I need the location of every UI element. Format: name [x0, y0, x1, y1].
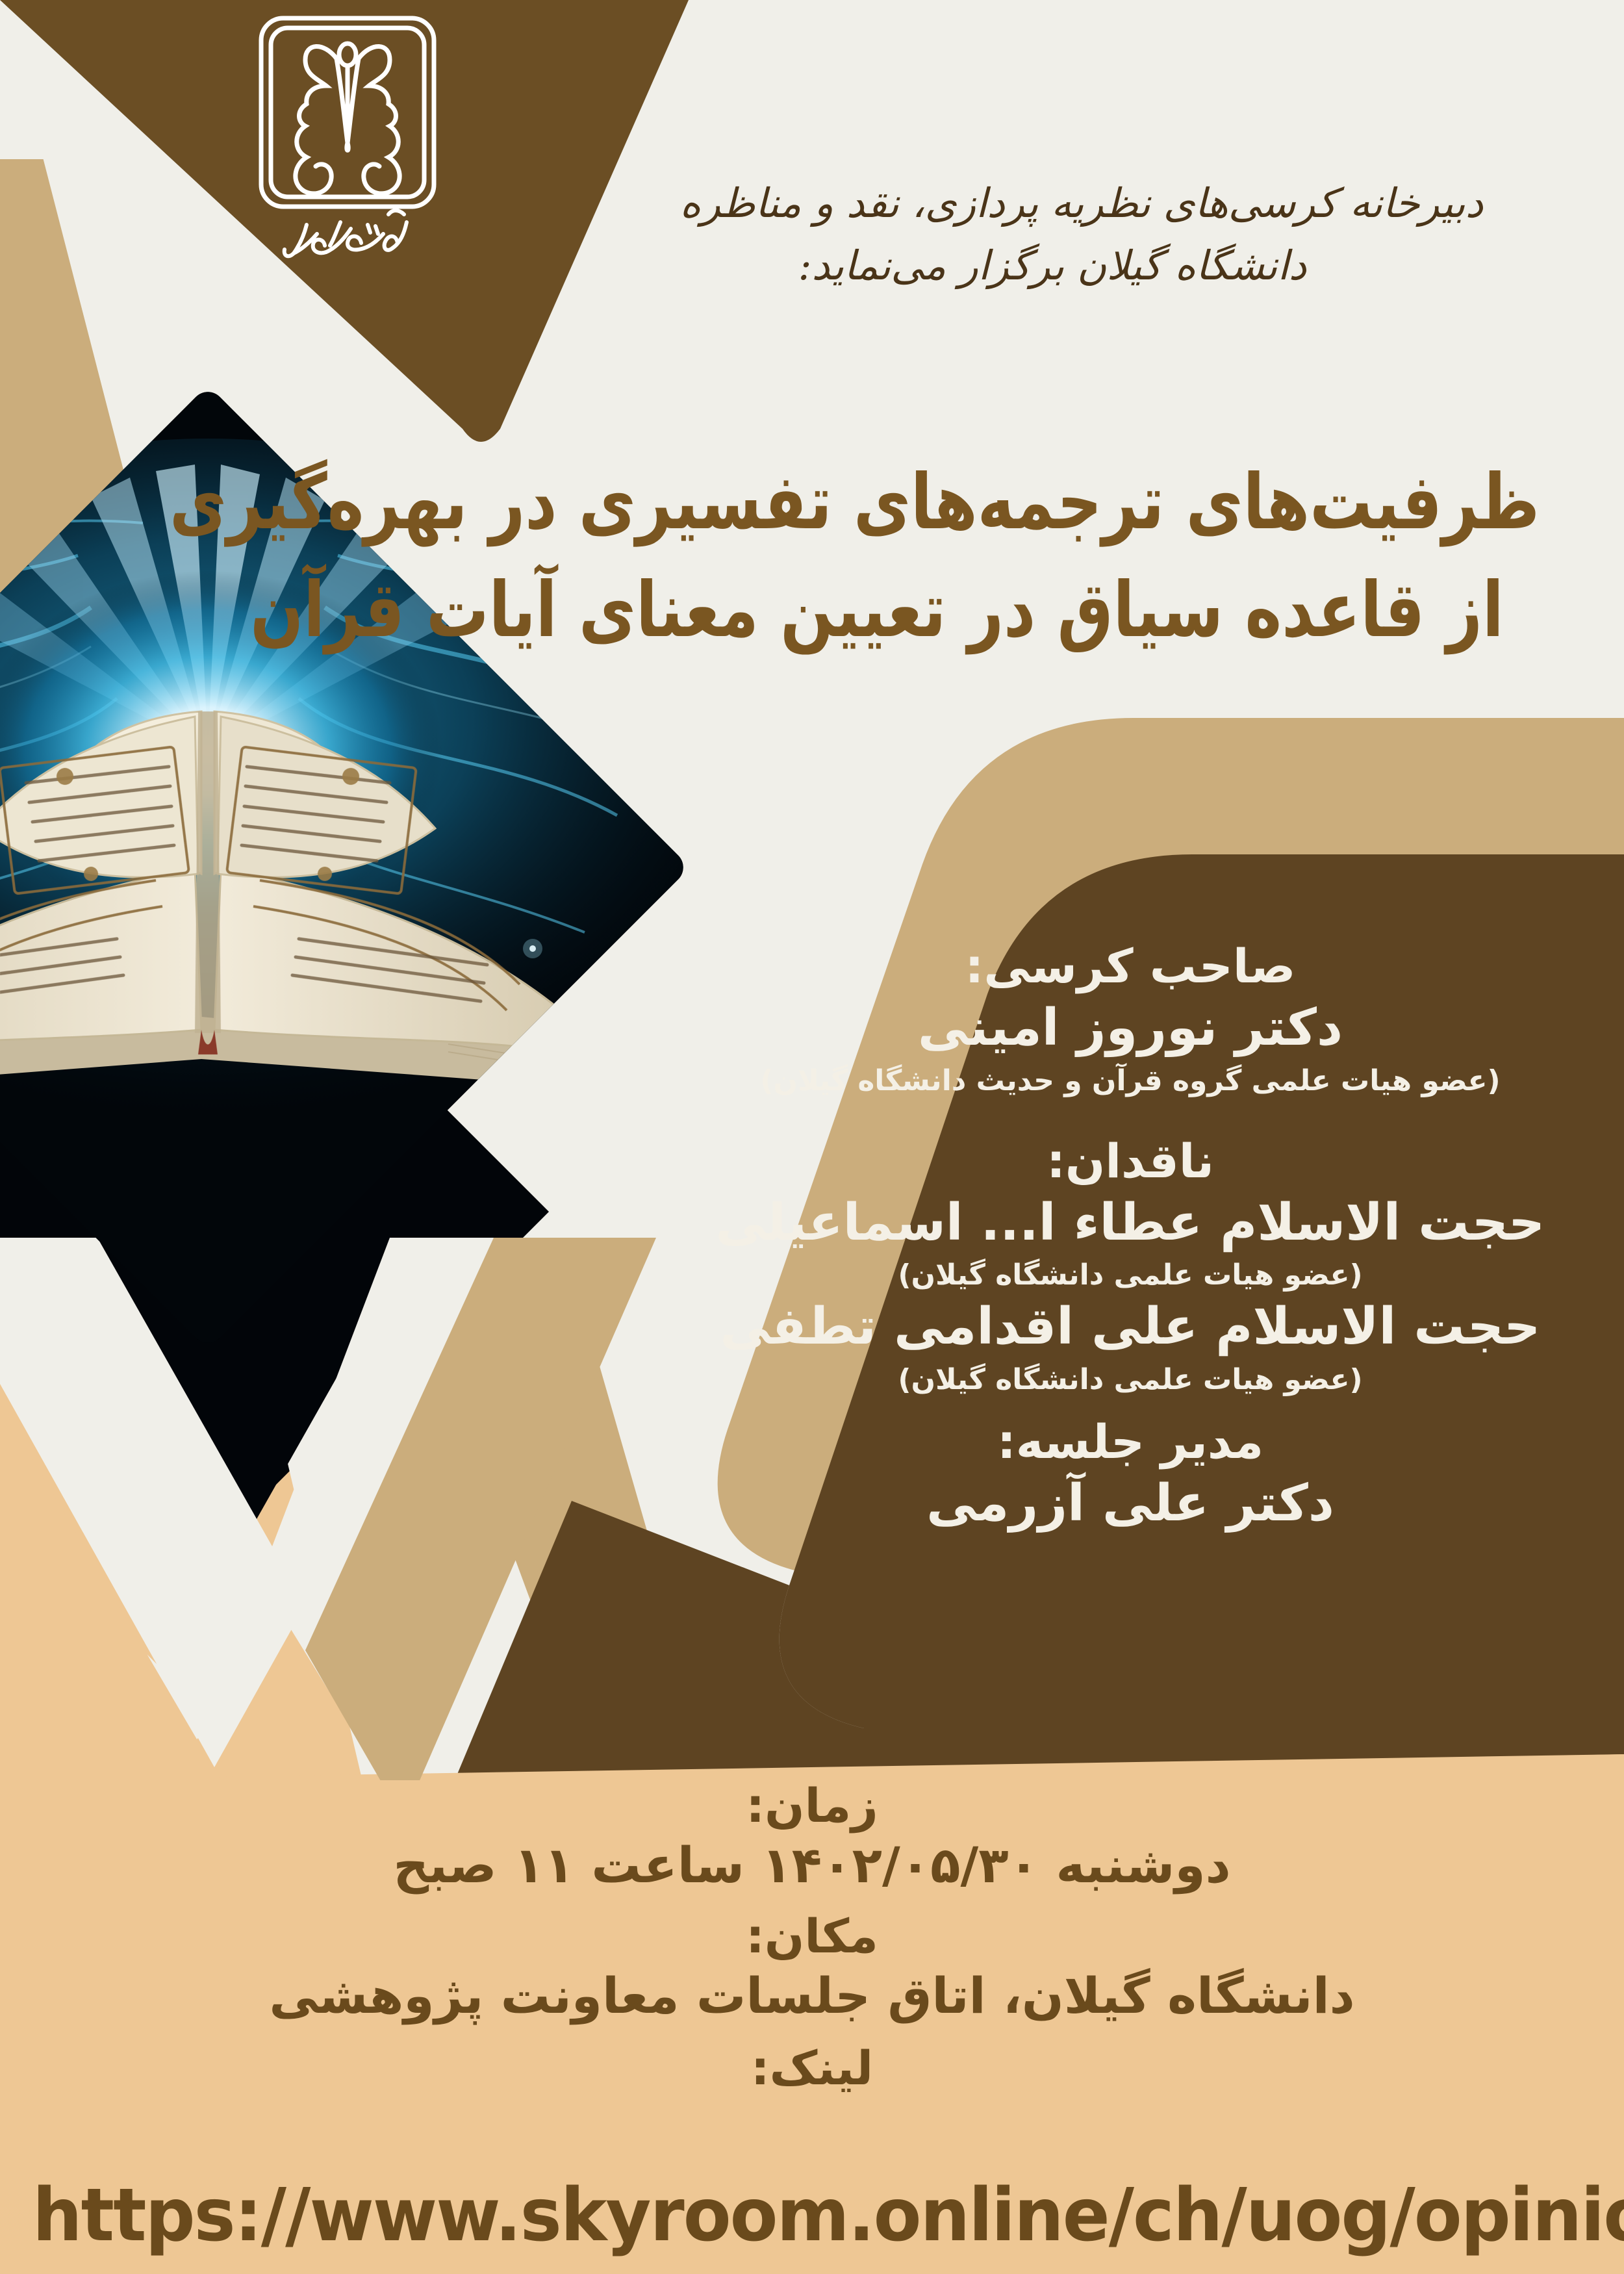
- university-of-gilan-logo: [253, 13, 442, 286]
- moderator-label: مدیر جلسه:: [695, 1414, 1566, 1470]
- spacer-3: [0, 1893, 1624, 1911]
- critics-label: ناقدان:: [695, 1134, 1566, 1189]
- spacer-1: [695, 1099, 1566, 1134]
- place-value: دانشگاه گیلان، اتاق جلسات معاونت پژوهشی: [0, 1969, 1624, 2023]
- critic-2-name: حجت الاسلام علی اقدامی تطفی: [695, 1297, 1566, 1358]
- title-line-2: از قاعده سیاق در تعیین معنای آیات قرآن: [214, 556, 1540, 664]
- link-label: لینک:: [0, 2043, 1624, 2094]
- title-line-1: ظرفیت‌های ترجمه‌های تفسیری در بهره‌گیری: [214, 448, 1540, 556]
- chair-name: دکتر نوروز امینی: [695, 998, 1566, 1059]
- chair-label: صاحب کرسی:: [695, 939, 1566, 994]
- spacer-4: [0, 2023, 1624, 2043]
- header-line-2: دانشگاه گیلان برگزار می‌نماید:: [643, 235, 1520, 297]
- spacer-2: [695, 1398, 1566, 1414]
- time-value: دوشنبه ۱۴۰۲/۰۵/۳۰ ساعت ۱۱ صبح: [0, 1838, 1624, 1893]
- critic-2-affiliation: (عضو هیات علمی دانشگاه گیلان): [695, 1362, 1566, 1398]
- critic-1-affiliation: (عضو هیات علمی دانشگاه گیلان): [695, 1257, 1566, 1293]
- header-line-1: دبیرخانه کرسی‌های نظریه پردازی، نقد و من…: [643, 172, 1520, 235]
- moderator-name: دکتر علی آزرمی: [695, 1474, 1566, 1535]
- event-details-section: زمان: دوشنبه ۱۴۰۲/۰۵/۳۰ ساعت ۱۱ صبح مکان…: [0, 1780, 1624, 2094]
- meeting-link-url[interactable]: https://www.skyroom.online/ch/uog/opinio…: [32, 2173, 1592, 2258]
- chair-affiliation: (عضو هیات علمی گروه قرآن و حدیث دانشگاه …: [695, 1063, 1566, 1099]
- page-title: ظرفیت‌های ترجمه‌های تفسیری در بهره‌گیری …: [214, 448, 1540, 665]
- speakers-section: صاحب کرسی: دکتر نوروز امینی (عضو هیات عل…: [695, 939, 1566, 1534]
- critic-1-name: حجت الاسلام عطاء ا... اسماعیلی: [695, 1193, 1566, 1254]
- poster-header: دبیرخانه کرسی‌های نظریه پردازی، نقد و من…: [643, 172, 1520, 297]
- time-label: زمان:: [0, 1780, 1624, 1832]
- event-poster: دبیرخانه کرسی‌های نظریه پردازی، نقد و من…: [0, 0, 1624, 2274]
- place-label: مکان:: [0, 1911, 1624, 1962]
